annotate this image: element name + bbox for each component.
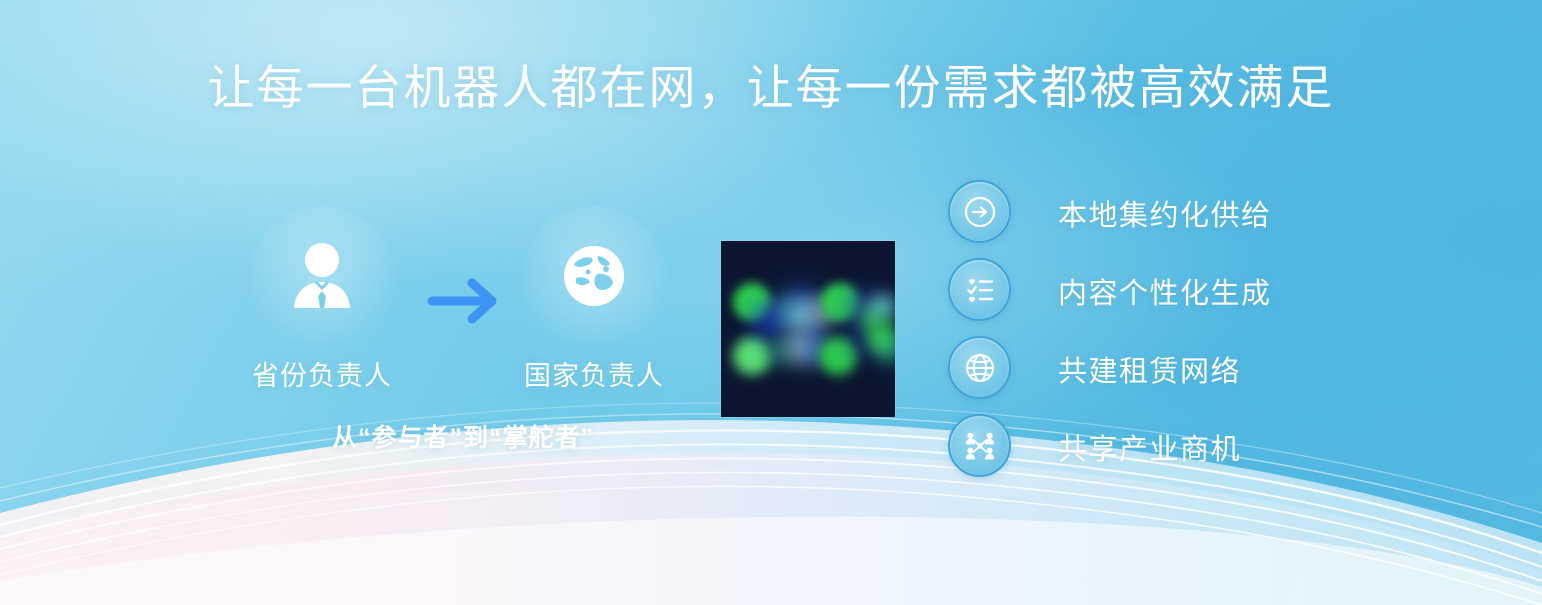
checklist-icon (948, 258, 1011, 321)
flow-node-province-label: 省份负责人 (228, 354, 416, 393)
people-network-icon (948, 414, 1011, 477)
feature-item-local-supply[interactable]: 本地集约化供给 (948, 180, 1378, 255)
page-title: 让每一台机器人都在网，让每一份需求都被高效满足 (0, 60, 1542, 116)
flow-caption: 从“参与者”到“掌舵者” (228, 418, 698, 454)
bokeh-orb (877, 337, 895, 363)
bokeh-lights-image (721, 241, 895, 417)
role-flow: 省份负责人 (228, 196, 698, 466)
feature-item-label: 内容个性化生成 (1058, 270, 1272, 312)
bokeh-orb (871, 293, 895, 319)
feature-list: 本地集约化供给 内容个性化生成 (948, 180, 1378, 492)
arrow-right-circle-icon (948, 180, 1011, 243)
feature-item-content-generation[interactable]: 内容个性化生成 (948, 258, 1378, 333)
flow-node-nation-label: 国家负责人 (500, 354, 688, 393)
globe-icon (550, 234, 638, 322)
feature-item-label: 共享产业商机 (1058, 426, 1241, 468)
businessman-icon (278, 234, 366, 322)
arrow-right-icon (424, 274, 506, 328)
flow-node-nation: 国家负责人 (500, 196, 688, 386)
globe-network-icon (948, 336, 1011, 399)
feature-item-shared-opportunities[interactable]: 共享产业商机 (948, 414, 1378, 489)
bokeh-orb (751, 303, 785, 337)
hero-banner: 让每一台机器人都在网，让每一份需求都被高效满足 省份负责人 (0, 0, 1542, 605)
flow-node-province: 省份负责人 (228, 196, 416, 386)
feature-item-label: 共建租赁网络 (1058, 348, 1241, 390)
feature-item-rental-network[interactable]: 共建租赁网络 (948, 336, 1378, 411)
feature-item-label: 本地集约化供给 (1058, 192, 1272, 234)
